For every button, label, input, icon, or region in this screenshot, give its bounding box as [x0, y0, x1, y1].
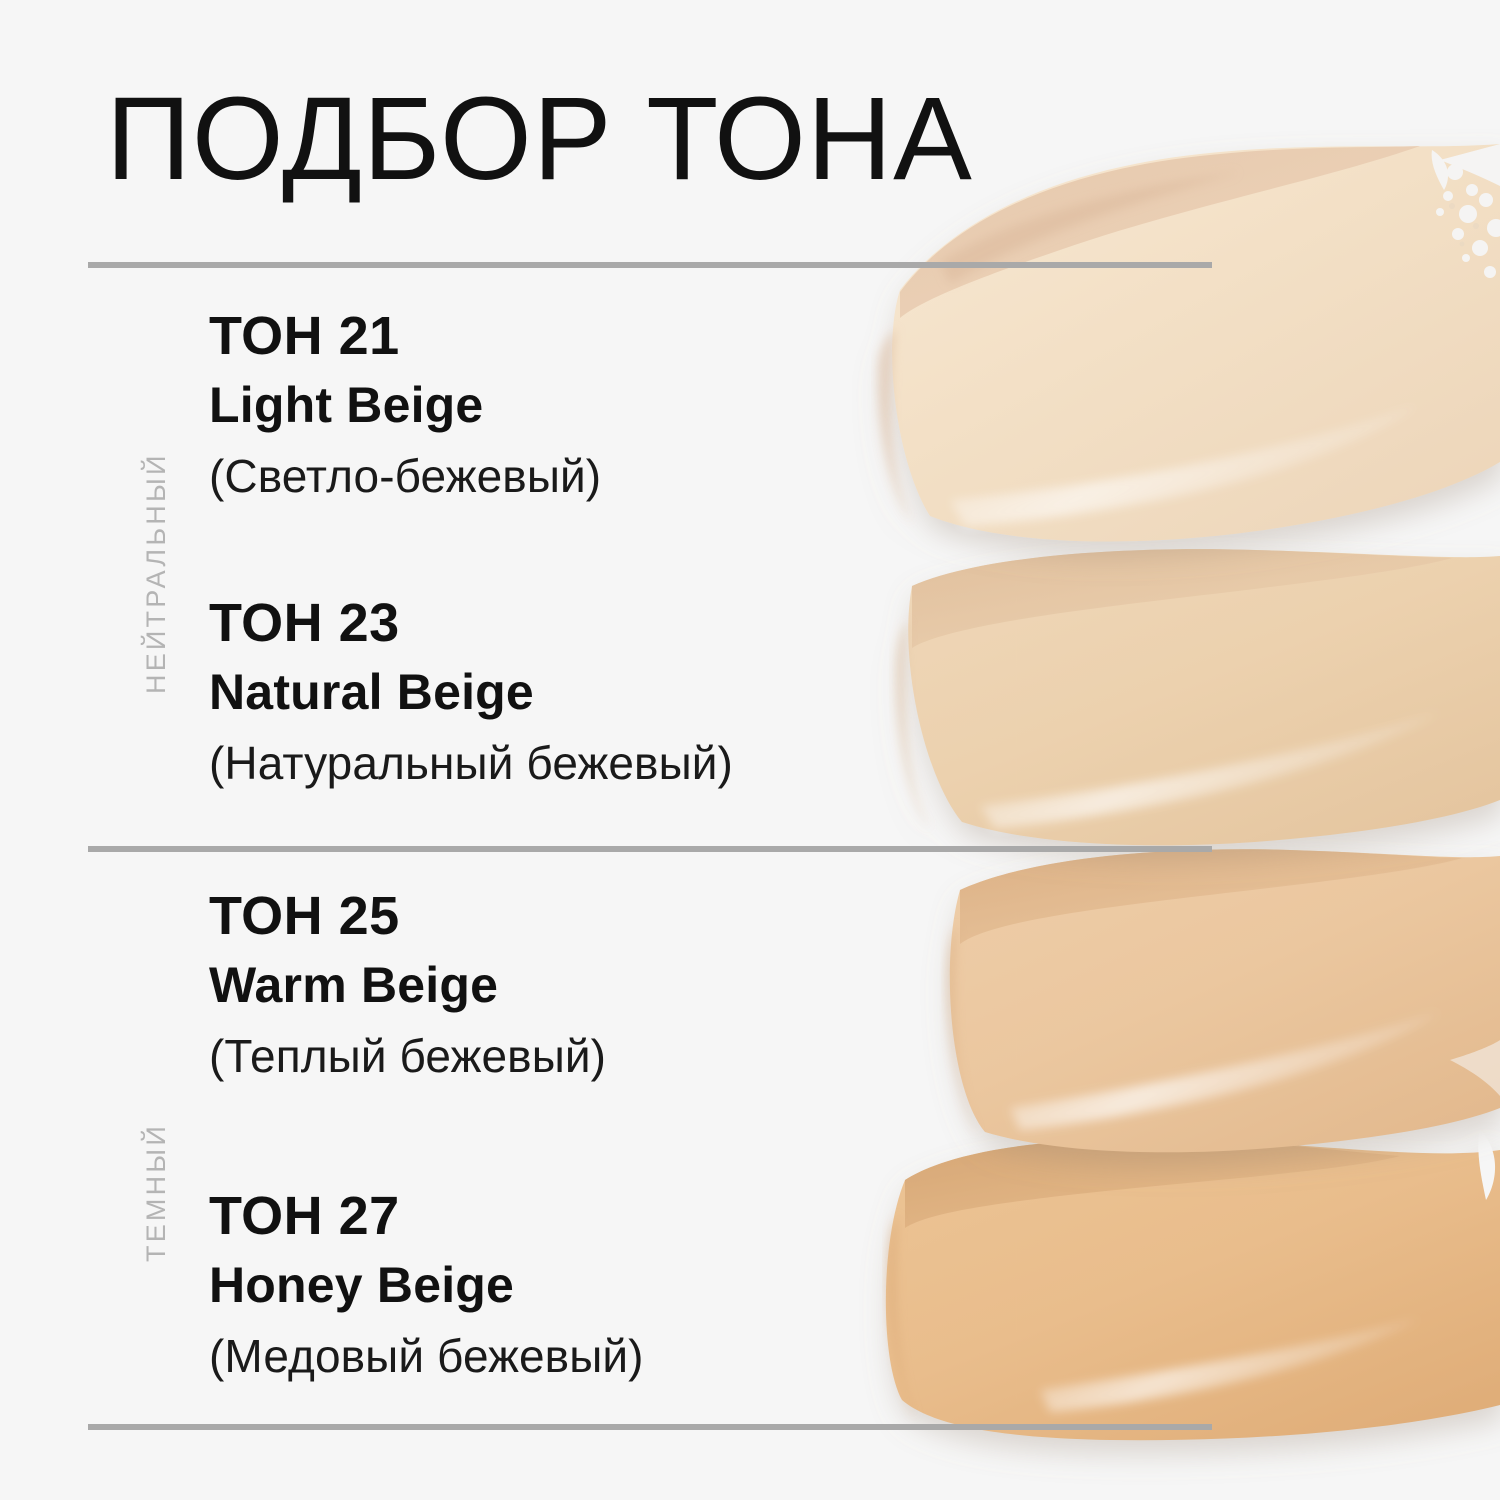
tone-translation: (Светло-бежевый) — [209, 443, 601, 510]
divider-bottom — [88, 1424, 1212, 1430]
tone-entry-21: ТОН 21 Light Beige (Светло-бежевый) — [209, 305, 601, 510]
tone-name: Warm Beige — [209, 948, 606, 1023]
tone-name: Light Beige — [209, 368, 601, 443]
tone-entry-27: ТОН 27 Honey Beige (Медовый бежевый) — [209, 1185, 644, 1390]
tone-translation: (Натуральный бежевый) — [209, 730, 733, 797]
swatch-tone-27 — [886, 1130, 1500, 1440]
tone-code: ТОН 25 — [209, 885, 606, 948]
tone-selection-poster: ПОДБОР ТОНА НЕЙТРАЛЬНЫЙ ТЕМНЫЙ ТОН 21 Li… — [0, 0, 1500, 1500]
swatch-tone-23 — [896, 549, 1500, 845]
tone-translation: (Медовый бежевый) — [209, 1323, 644, 1390]
tone-name: Honey Beige — [209, 1248, 644, 1323]
group-label-neutral: НЕЙТРАЛЬНЫЙ — [141, 452, 172, 694]
tone-code: ТОН 23 — [209, 592, 733, 655]
group-label-dark: ТЕМНЫЙ — [141, 1123, 172, 1262]
tone-name: Natural Beige — [209, 655, 733, 730]
swatch-tone-25 — [947, 849, 1500, 1152]
page-title: ПОДБОР ТОНА — [106, 78, 973, 202]
divider-top — [88, 262, 1212, 268]
tone-entry-25: ТОН 25 Warm Beige (Теплый бежевый) — [209, 885, 606, 1090]
divider-middle — [88, 846, 1212, 852]
tone-entry-23: ТОН 23 Natural Beige (Натуральный бежевы… — [209, 592, 733, 797]
tone-code: ТОН 21 — [209, 305, 601, 368]
tone-translation: (Теплый бежевый) — [209, 1023, 606, 1090]
tone-code: ТОН 27 — [209, 1185, 644, 1248]
